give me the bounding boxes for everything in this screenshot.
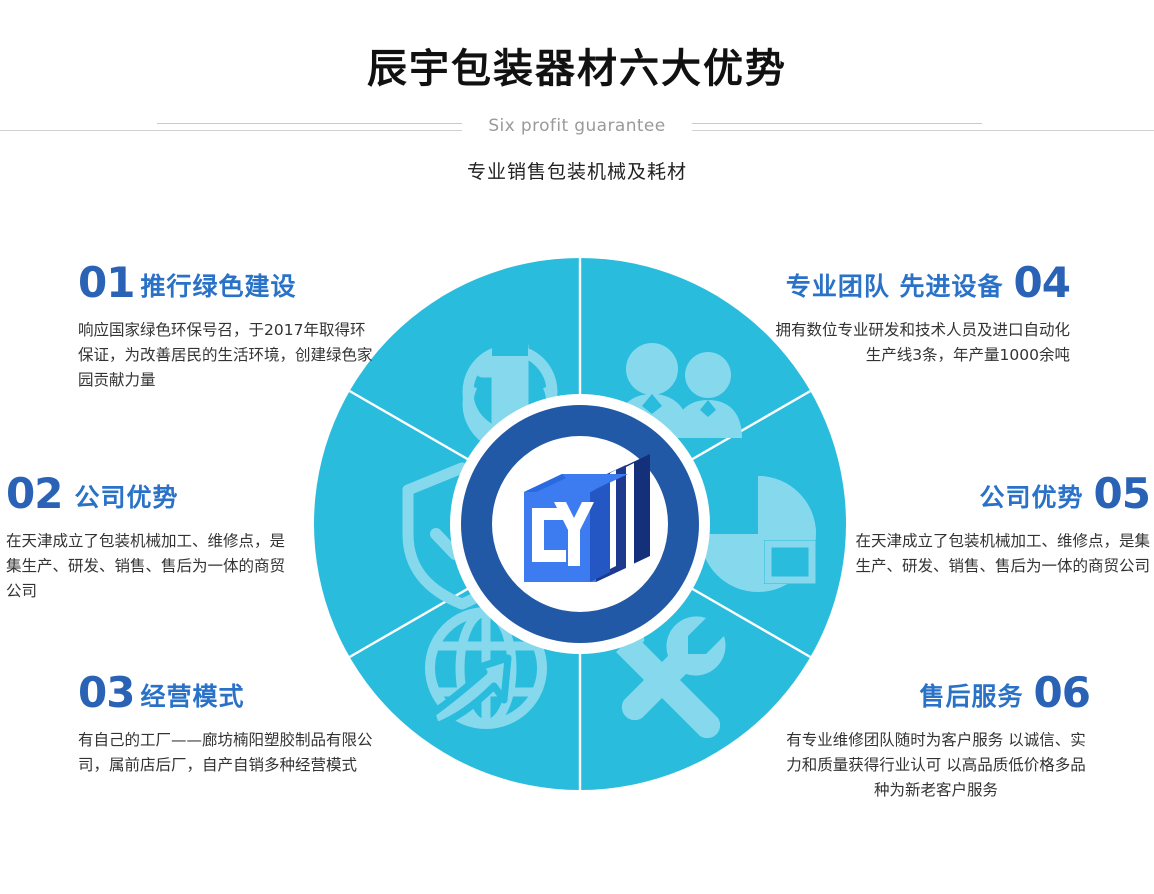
feature-number: 06 [1034,668,1090,717]
power-growth-icon-mask [492,336,528,356]
infographic-page: 辰宇包装器材六大优势 Six profit guarantee 专业销售包装机械… [0,0,1154,894]
feature-block-03: 03经营模式 有自己的工厂——廊坊楠阳塑胶制品有限公司，属前店后厂，自产自销多种… [78,672,396,778]
subtitle-chinese: 专业销售包装机械及耗材 [0,157,1154,184]
feature-block-05: 公司优势05 在天津成立了包装机械加工、维修点，是集生产、研发、销售、售后为一体… [852,473,1150,579]
feature-heading: 03经营模式 [78,672,396,714]
page-header: 辰宇包装器材六大优势 Six profit guarantee 专业销售包装机械… [0,0,1154,210]
feature-title: 经营模式 [140,682,244,711]
feature-title: 公司优势 [74,483,178,512]
page-title: 辰宇包装器材六大优势 [0,36,1154,94]
feature-title: 售后服务 [920,682,1024,711]
feature-heading: 专业团队 先进设备04 [770,262,1070,304]
feature-description: 在天津成立了包装机械加工、维修点，是集生产、研发、销售、售后为一体的商贸公司 [852,529,1150,579]
feature-heading: 售后服务06 [782,672,1090,714]
feature-number: 04 [1014,258,1070,307]
feature-heading: 公司优势05 [852,473,1150,515]
feature-number: 01 [78,258,134,307]
feature-heading: 02公司优势 [6,473,298,515]
feature-title: 公司优势 [980,483,1084,512]
feature-number: 03 [78,668,134,717]
feature-title: 专业团队 先进设备 [786,272,1004,301]
feature-block-06: 售后服务06 有专业维修团队随时为客户服务 以诚信、实力和质量获得行业认可 以高… [782,672,1090,803]
feature-block-02: 02公司优势 在天津成立了包装机械加工、维修点，是集生产、研发、销售、售后为一体… [6,473,298,604]
feature-description: 在天津成立了包装机械加工、维修点，是集生产、研发、销售、售后为一体的商贸公司 [6,529,298,604]
subtitle-divider: Six profit guarantee [0,108,1154,144]
feature-block-04: 专业团队 先进设备04 拥有数位专业研发和技术人员及进口自动化生产线3条，年产量… [770,262,1070,368]
feature-block-01: 01推行绿色建设 响应国家绿色环保号召，于2017年取得环保证，为改善居民的生活… [78,262,378,393]
feature-description: 拥有数位专业研发和技术人员及进口自动化生产线3条，年产量1000余吨 [770,318,1070,368]
subtitle-english-text: Six profit guarantee [462,116,691,136]
feature-description: 有专业维修团队随时为客户服务 以诚信、实力和质量获得行业认可 以高品质低价格多品… [782,728,1090,803]
feature-title: 推行绿色建设 [140,272,296,301]
feature-number: 05 [1094,469,1150,518]
feature-description: 响应国家绿色环保号召，于2017年取得环保证，为改善居民的生活环境，创建绿色家园… [78,318,378,393]
feature-heading: 01推行绿色建设 [78,262,378,304]
feature-description: 有自己的工厂——廊坊楠阳塑胶制品有限公司，属前店后厂，自产自销多种经营模式 [78,728,396,778]
subtitle-english: Six profit guarantee [0,116,1154,136]
feature-number: 02 [6,469,62,518]
